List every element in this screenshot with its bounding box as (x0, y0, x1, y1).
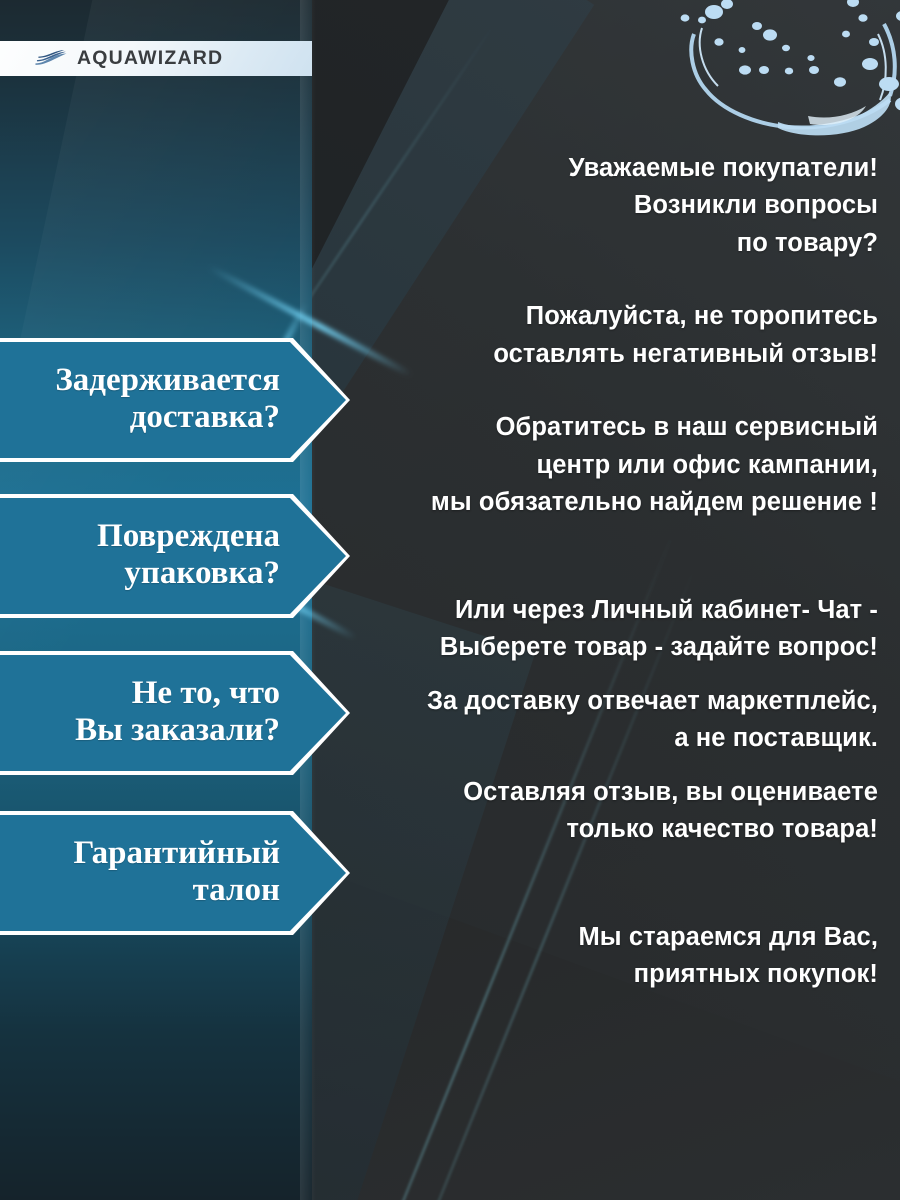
brand-logo-text: AQUAWIZARD (77, 47, 223, 70)
tag-label: Гарантийный талон (60, 831, 347, 916)
tag-damaged-package[interactable]: Повреждена упаковка? (0, 498, 346, 614)
tag-wrong-item[interactable]: Не то, что Вы заказали? (0, 655, 346, 771)
wave-icon (34, 49, 68, 69)
paragraph-closing: Мы стараемся для Вас, приятных покупок! (318, 919, 878, 994)
tag-label: Повреждена упаковка? (83, 514, 346, 599)
paragraph-greeting: Уважаемые покупатели! Возникли вопросы п… (318, 150, 878, 262)
paragraph-contact-service: Обратитесь в наш сервисный центр или офи… (318, 409, 878, 521)
paragraph-review-quality-only: Оставляя отзыв, вы оцениваете только кач… (318, 774, 878, 849)
message-column: Уважаемые покупатели! Возникли вопросы п… (318, 150, 878, 1019)
brand-logo-bar: AQUAWIZARD (0, 41, 312, 76)
paragraph-marketplace-responsible: За доставку отвечает маркетплейс, а не п… (318, 683, 878, 758)
promo-poster: AQUAWIZARD (0, 0, 900, 1200)
paragraph-via-account-chat: Или через Личный кабинет- Чат - Выберете… (318, 592, 878, 667)
tag-label: Не то, что Вы заказали? (61, 671, 346, 756)
tag-delivery-delayed[interactable]: Задерживается доставка? (0, 342, 346, 458)
tag-label: Задерживается доставка? (41, 358, 346, 443)
tag-warranty-card[interactable]: Гарантийный талон (0, 815, 346, 931)
paragraph-please-wait: Пожалуйста, не торопитесь оставлять нега… (318, 298, 878, 373)
